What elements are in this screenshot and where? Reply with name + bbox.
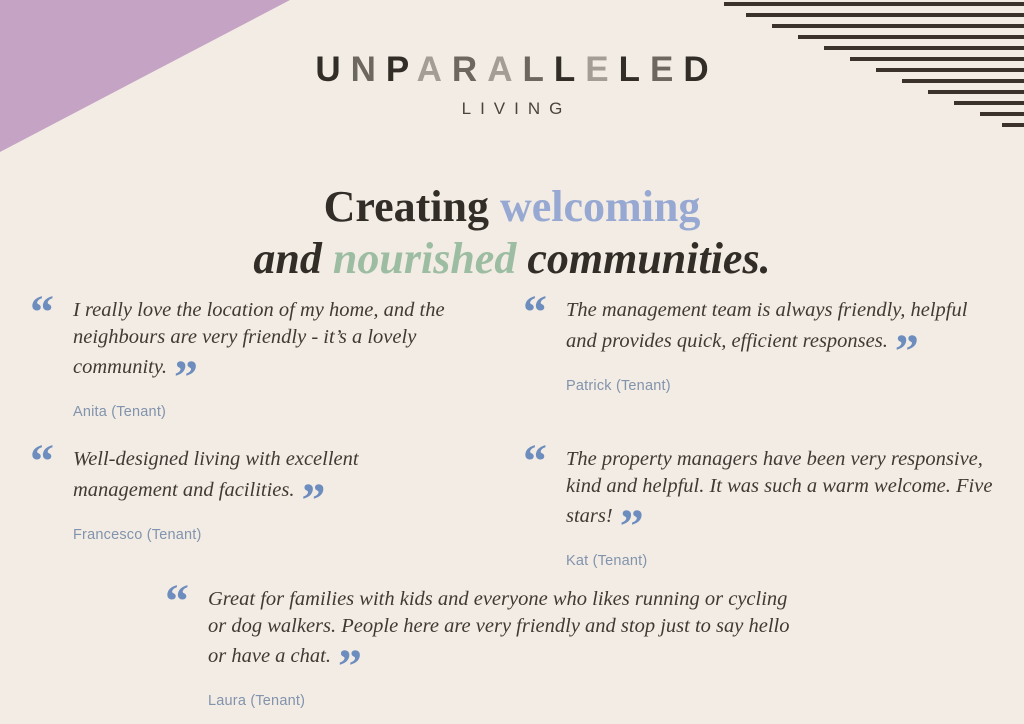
quote-close-icon: ” <box>174 354 197 402</box>
testimonial-quote: “The property managers have been very re… <box>523 446 993 547</box>
testimonial-quote: “Great for families with kids and everyo… <box>165 586 805 687</box>
headline-text-communities: communities. <box>516 234 770 283</box>
testimonial-quote: “Well-designed living with excellent man… <box>30 446 450 521</box>
quote-close-icon: ” <box>301 477 324 525</box>
testimonial-list: “I really love the location of my home, … <box>0 283 1024 723</box>
testimonial-card-anita: “I really love the location of my home, … <box>30 297 470 420</box>
quote-close-icon: ” <box>338 643 361 691</box>
headline-text-creating: Creating <box>324 182 500 231</box>
headline-text-and: and <box>253 234 332 283</box>
quote-open-icon: “ <box>30 438 53 486</box>
headline-line-1: Creating welcoming <box>0 181 1024 233</box>
testimonial-quote-text: I really love the location of my home, a… <box>73 299 445 378</box>
quote-close-icon: ” <box>620 503 643 551</box>
testimonial-quote: “I really love the location of my home, … <box>30 297 470 398</box>
logo-secondary-text: LIVING <box>0 100 1024 117</box>
headline-highlight-nourished: nourished <box>333 234 516 283</box>
testimonial-card-kat: “The property managers have been very re… <box>523 446 993 569</box>
testimonial-attribution: Laura (Tenant) <box>208 693 805 709</box>
page-title: Creating welcoming and nourished communi… <box>0 181 1024 285</box>
quote-open-icon: “ <box>165 578 188 626</box>
testimonial-card-francesco: “Well-designed living with excellent man… <box>30 446 450 543</box>
testimonial-card-laura: “Great for families with kids and everyo… <box>165 586 805 709</box>
testimonial-slide: UNPARALLELED LIVING Creating welcoming a… <box>0 0 1024 724</box>
headline-line-2: and nourished communities. <box>0 233 1024 285</box>
testimonial-attribution: Francesco (Tenant) <box>73 527 450 543</box>
quote-open-icon: “ <box>523 438 546 486</box>
quote-open-icon: “ <box>30 289 53 337</box>
testimonial-quote-text: Great for families with kids and everyon… <box>208 588 790 667</box>
testimonial-attribution: Kat (Tenant) <box>566 553 993 569</box>
headline-highlight-welcoming: welcoming <box>500 182 700 231</box>
testimonial-attribution: Anita (Tenant) <box>73 404 470 420</box>
testimonial-attribution: Patrick (Tenant) <box>566 378 973 394</box>
quote-close-icon: ” <box>895 328 918 376</box>
testimonial-card-patrick: “The management team is always friendly,… <box>523 297 973 394</box>
logo-primary-text: UNPARALLELED <box>0 52 1024 87</box>
quote-open-icon: “ <box>523 289 546 337</box>
testimonial-quote: “The management team is always friendly,… <box>523 297 973 372</box>
brand-logo: UNPARALLELED LIVING <box>0 52 1024 117</box>
